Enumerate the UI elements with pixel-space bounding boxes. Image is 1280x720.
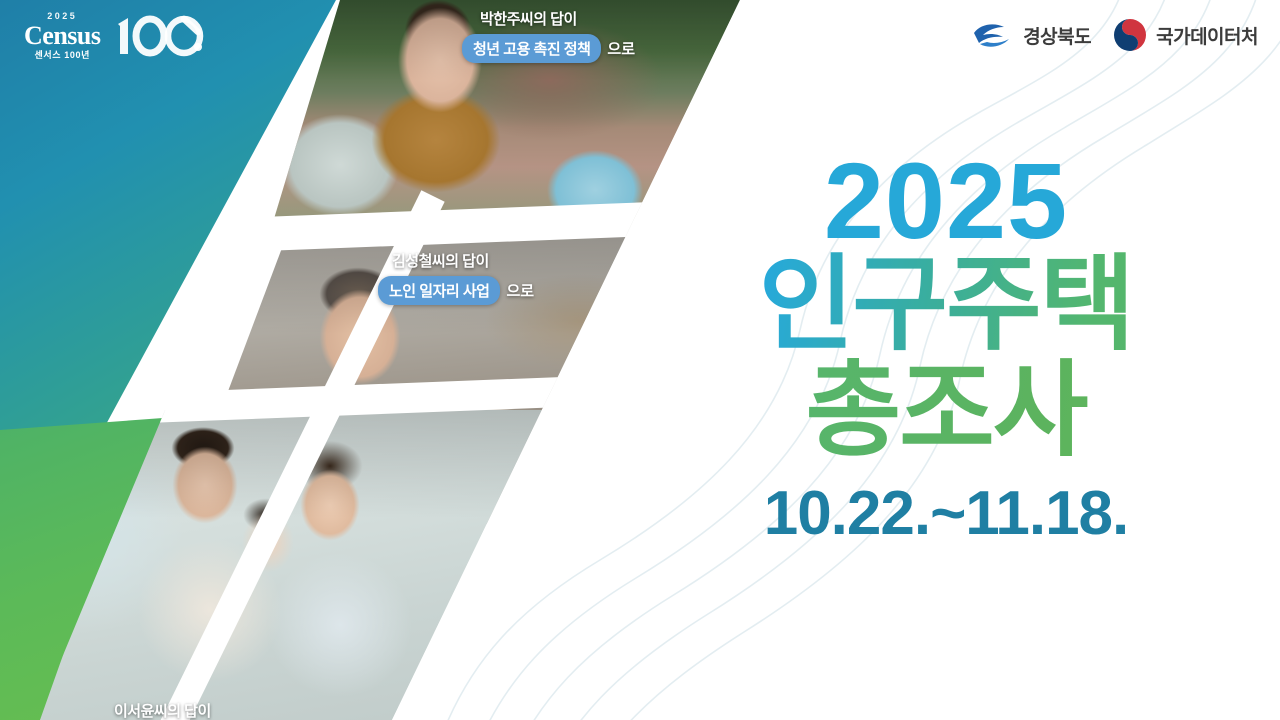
headline-year: 2025 — [626, 150, 1266, 252]
headline-block: 2025 인구주택 총조사 10.22.~11.18. — [626, 150, 1266, 549]
organization-logos: 경상북도 국가데이터처 — [970, 18, 1258, 52]
gyeongbuk-wave-icon — [970, 20, 1014, 50]
poster-canvas: 박한주씨의 답이 청년 고용 촉진 정책 으로 김성철씨의 답이 노인 일자리 … — [0, 0, 1280, 720]
census-logo: 2025 Census 센서스 100년 — [24, 12, 206, 60]
caption-tail-text: 으로 — [506, 280, 534, 301]
caption-highlight-row: 청년 고용 촉진 정책 으로 — [462, 34, 635, 63]
logo-gyeongsangbuk-do: 경상북도 — [970, 20, 1091, 50]
caption-lead-text: 김성철씨의 답이 — [378, 250, 534, 271]
census-logo-word: Census — [24, 23, 100, 49]
census-logo-year: 2025 — [47, 12, 77, 21]
census-100-anniversary-icon — [110, 14, 206, 58]
caption-youth-employment: 박한주씨의 답이 청년 고용 촉진 정책 으로 — [462, 8, 635, 63]
taeguk-icon — [1113, 18, 1147, 52]
headline-line-1: 인구주택 — [626, 252, 1266, 358]
caption-lead-text: 박한주씨의 답이 — [462, 8, 635, 29]
census-logo-subtitle: 센서스 100년 — [35, 51, 90, 60]
headline-line-2: 총조사 — [626, 358, 1266, 464]
org-label: 국가데이터처 — [1156, 22, 1258, 49]
caption-highlight-pill: 노인 일자리 사업 — [378, 276, 500, 305]
caption-senior-jobs: 김성철씨의 답이 노인 일자리 사업 으로 — [378, 250, 534, 305]
census-wordmark: 2025 Census 센서스 100년 — [24, 12, 100, 60]
caption-lead-text: 이서윤씨의 답이 — [108, 700, 211, 720]
caption-tail-text: 으로 — [607, 38, 635, 59]
logo-national-data-office: 국가데이터처 — [1113, 18, 1258, 52]
caption-family: 이서윤씨의 답이 — [108, 700, 211, 720]
org-label: 경상북도 — [1023, 22, 1091, 49]
caption-highlight-row: 노인 일자리 사업 으로 — [378, 276, 534, 305]
caption-highlight-pill: 청년 고용 촉진 정책 — [462, 34, 601, 63]
headline-date-range: 10.22.~11.18. — [626, 478, 1266, 549]
